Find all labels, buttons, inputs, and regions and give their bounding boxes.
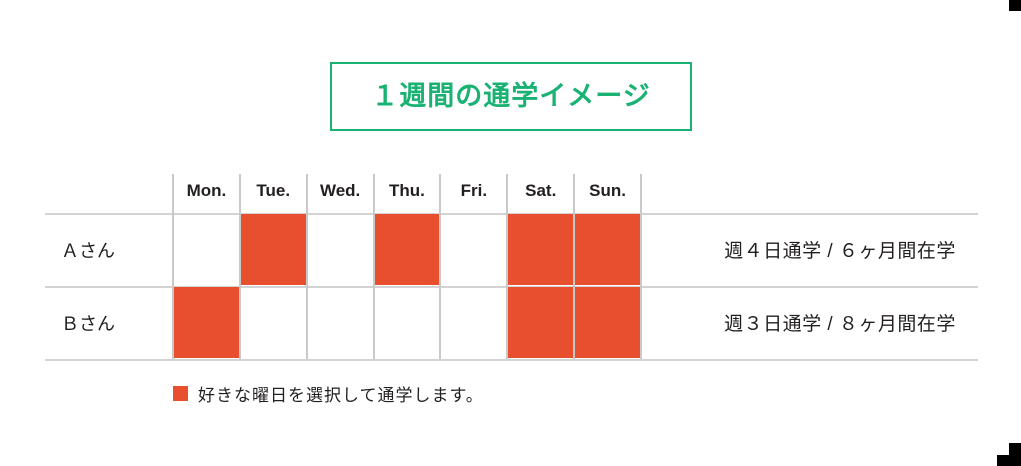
- day-header-fri: Fri.: [440, 168, 507, 213]
- table-rule-bottom: [45, 359, 978, 361]
- attendance-cell-filled[interactable]: [575, 287, 640, 358]
- person-label: Ｂさん: [61, 286, 171, 359]
- attendance-cell-filled[interactable]: [508, 214, 573, 285]
- attendance-cell-filled[interactable]: [174, 287, 239, 358]
- table-column-divider: [439, 213, 441, 359]
- day-header-tue: Tue.: [240, 168, 307, 213]
- attendance-cell-filled[interactable]: [508, 287, 573, 358]
- page-title: １週間の通学イメージ: [371, 83, 650, 110]
- attendance-cell-filled[interactable]: [375, 214, 440, 285]
- page-title-box: １週間の通学イメージ: [330, 62, 692, 131]
- person-label: Ａさん: [61, 213, 171, 286]
- person-summary-note: 週４日通学 / ６ヶ月間在学: [695, 213, 985, 286]
- table-column-divider: [306, 213, 308, 359]
- day-header-sun: Sun.: [574, 168, 641, 213]
- person-summary-note: 週３日通学 / ８ヶ月間在学: [695, 286, 985, 359]
- legend-label: 好きな曜日を選択して通学します。: [198, 381, 484, 406]
- legend: 好きな曜日を選択して通学します。: [173, 381, 484, 406]
- day-header-wed: Wed.: [307, 168, 374, 213]
- corner-mark-bottom-right-vertical: [1009, 443, 1021, 466]
- table-column-divider: [640, 213, 642, 359]
- attendance-cell-filled[interactable]: [575, 214, 640, 285]
- day-header-thu: Thu.: [374, 168, 441, 213]
- day-header-sat: Sat.: [507, 168, 574, 213]
- attendance-cell-filled[interactable]: [241, 214, 306, 285]
- legend-swatch-icon: [173, 386, 188, 401]
- day-header-mon: Mon.: [173, 168, 240, 213]
- corner-mark-top-right: [1009, 0, 1021, 11]
